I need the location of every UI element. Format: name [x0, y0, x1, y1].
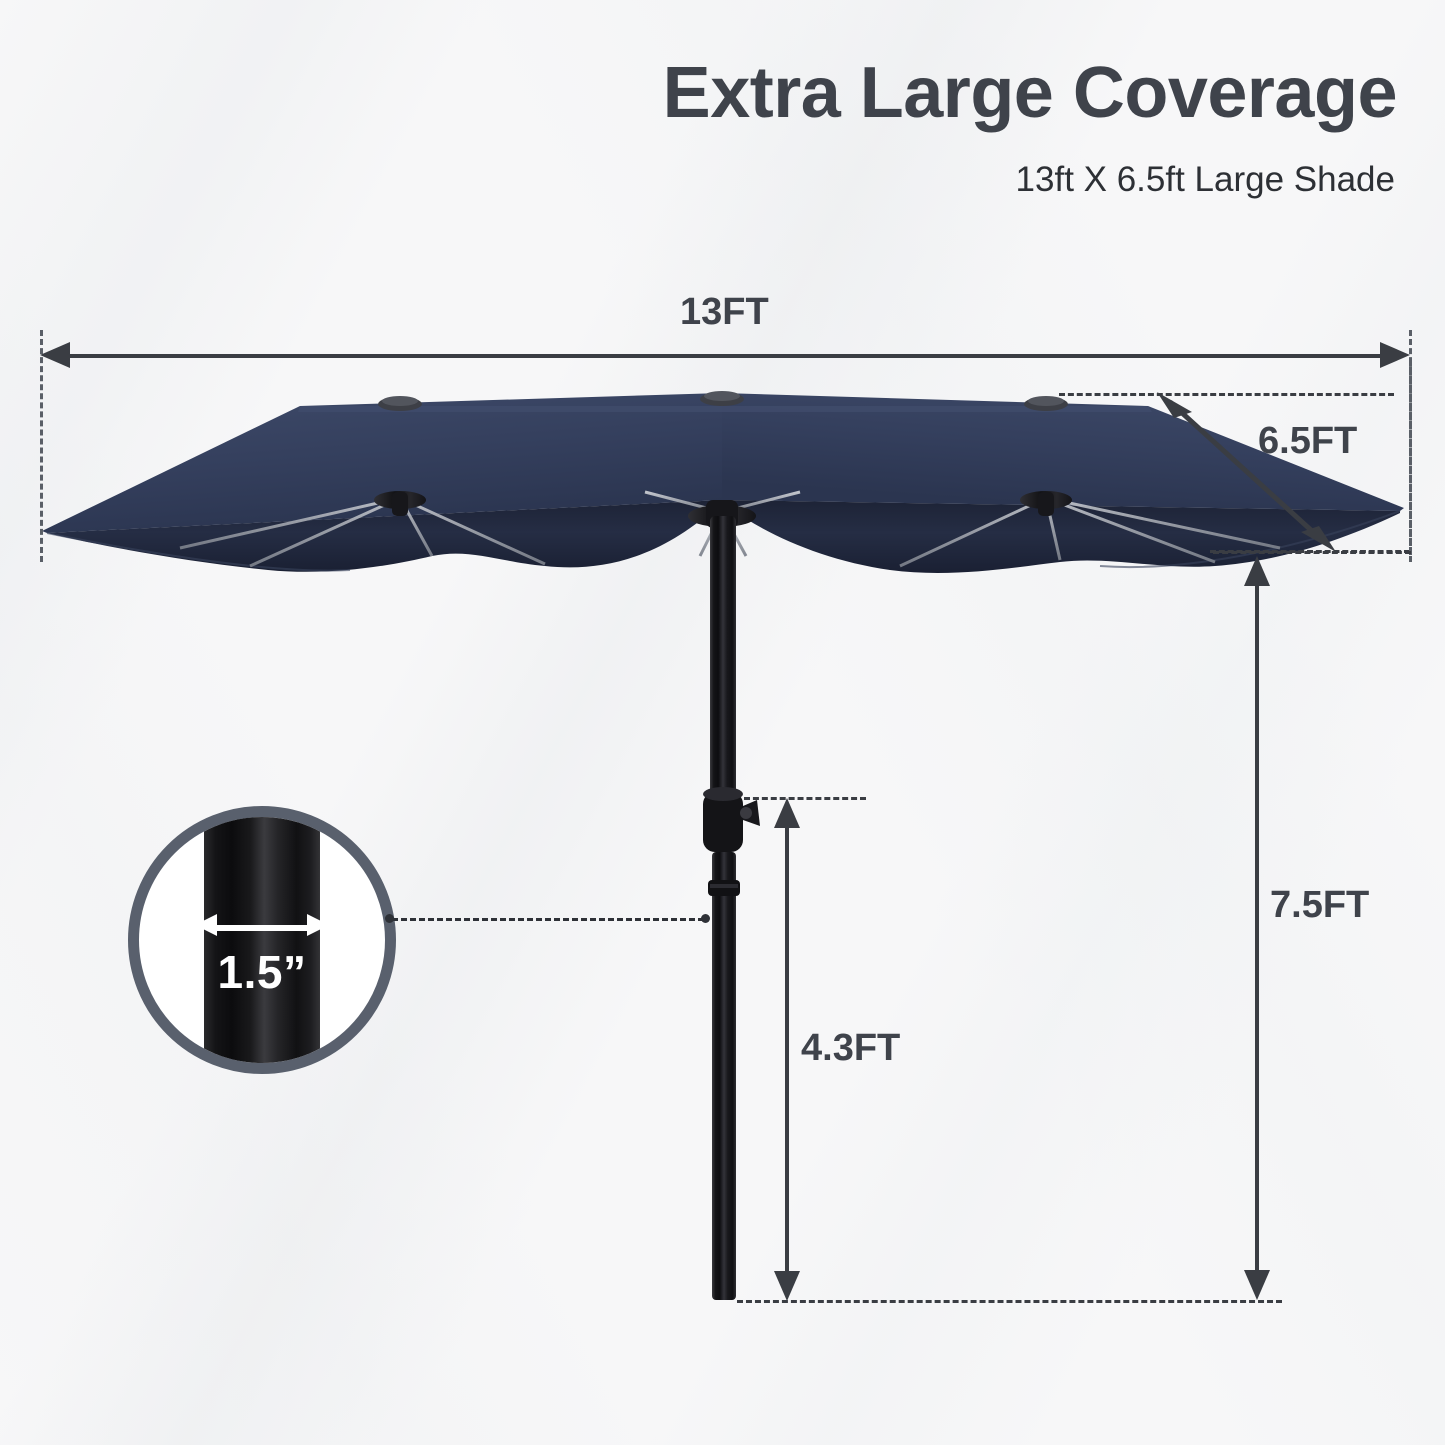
callout-arrowhead-left	[195, 914, 217, 936]
clearance-guide-top	[744, 797, 866, 800]
callout-pole-graphic	[204, 806, 320, 1074]
depth-guide-upper	[1059, 393, 1394, 396]
clearance-arrowhead-top	[774, 798, 800, 828]
callout-arrowhead-right	[307, 914, 329, 936]
height-arrowhead-top	[1244, 556, 1270, 586]
pole-diameter-label: 1.5”	[139, 945, 385, 999]
height-dimension-label: 7.5FT	[1270, 884, 1369, 927]
height-dimension-line	[1255, 585, 1259, 1271]
height-arrowhead-bottom	[1244, 1270, 1270, 1300]
width-arrowhead-left	[40, 342, 70, 368]
infographic-canvas: Extra Large Coverage 13ft X 6.5ft Large …	[0, 0, 1445, 1445]
clearance-arrowhead-bottom	[774, 1271, 800, 1301]
depth-dimension-label: 6.5FT	[1258, 420, 1357, 463]
clearance-dimension-label: 4.3FT	[801, 1027, 900, 1070]
pole-diameter-callout: 1.5”	[128, 806, 396, 1074]
height-guide-top	[1213, 551, 1411, 554]
callout-leader-dot-right	[701, 914, 710, 923]
height-guide-bottom	[737, 1300, 1282, 1303]
callout-leader-line	[392, 918, 704, 921]
umbrella-illustration	[0, 0, 1445, 1445]
height-extension-line-top	[1409, 360, 1412, 555]
width-dimension-line	[62, 354, 1388, 358]
width-dimension-label: 13FT	[680, 291, 769, 334]
callout-measure-line	[210, 925, 314, 931]
clearance-dimension-line	[785, 826, 789, 1272]
width-arrowhead-right	[1380, 342, 1410, 368]
